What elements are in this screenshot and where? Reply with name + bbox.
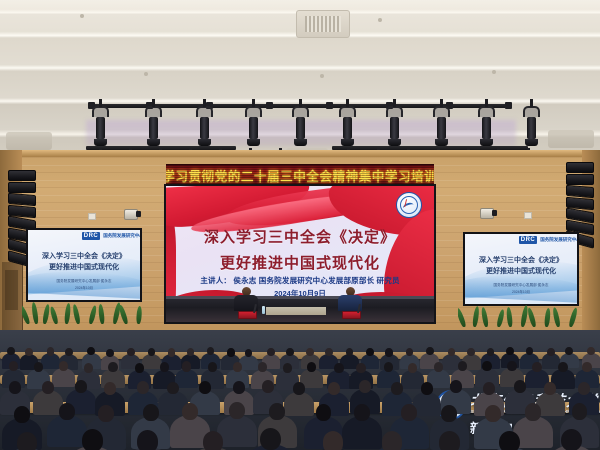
stage-spotlight (145, 106, 162, 146)
audience-member-head (354, 404, 370, 421)
audience-member-head (9, 381, 21, 394)
audience-member-head (408, 363, 417, 373)
audience-member-head (578, 382, 590, 395)
stage-spotlight (196, 106, 213, 146)
audience-member-head (182, 361, 191, 371)
audience-member-head (323, 431, 344, 450)
stage-spotlight (292, 106, 309, 146)
left-monitor-date: 2024年10月 (28, 285, 140, 290)
audience-member-head (346, 348, 354, 356)
audience-member-head (382, 431, 403, 450)
audience-member-head (426, 347, 434, 355)
stage-spotlight (478, 106, 495, 146)
audience-member-head (42, 381, 54, 394)
audience-member-head (450, 380, 462, 393)
audience-member-head (359, 380, 371, 393)
audience-member-head (434, 362, 443, 372)
left-monitor-surface: DRC 国务院发展研究中心 深入学习三中全会《决定》 更好推进中国式现代化 国务… (28, 230, 140, 300)
drc-logo-org: 国务院发展研究中心 (540, 237, 577, 243)
wall-camera-left (124, 209, 138, 220)
audience-member-head (587, 347, 595, 355)
right-monitor-date: 2024年10月 (465, 289, 577, 294)
drc-logo-bar: DRC 国务院发展研究中心 (465, 234, 577, 245)
audience-member-head (506, 347, 514, 355)
audience-member-head (167, 382, 179, 395)
audience-member-head (269, 403, 285, 420)
potted-plants-right (458, 303, 586, 327)
audience-member-head (283, 363, 292, 373)
audience-member-head (565, 347, 573, 355)
podium-document (266, 307, 326, 315)
audience-member-head (483, 382, 495, 395)
audience-member-head (439, 431, 460, 450)
ceiling-sensor-dot (80, 14, 84, 18)
audience-member-head (227, 348, 235, 356)
audience-member-head (499, 431, 520, 450)
audience-member (52, 368, 75, 387)
left-monitor-title-1: 深入学习三中全会《决定》 (28, 251, 140, 261)
audience-member-head (582, 362, 591, 372)
stage-spotlight (92, 106, 109, 146)
drc-logo-mark: DRC (82, 232, 101, 240)
audience-member-head (385, 348, 393, 356)
audience-member-head (366, 348, 374, 356)
audience-member-head (7, 347, 15, 355)
audience-member-head (286, 348, 294, 356)
audience-member-head (203, 431, 224, 450)
audience-member-head (59, 403, 75, 420)
main-title-line-1: 深入学习三中全会《决定》 (166, 226, 434, 247)
main-title-line-2: 更好推进中国式现代化 (166, 252, 434, 273)
audience-member-head (14, 406, 30, 423)
audience-member-head (421, 382, 433, 395)
audience-member-head (25, 348, 33, 356)
audience-member-head (143, 404, 159, 421)
stage-spotlight (339, 106, 356, 146)
audience-member-head (482, 361, 491, 371)
audience-member (342, 416, 382, 448)
audience-member-head (441, 405, 457, 422)
main-screen-surface: 深入学习三中全会《决定》 更好推进中国式现代化 主讲人： 侯永志 国务院发展研究… (166, 186, 434, 322)
led-banner: 学习贯彻党的二十届三中全会精神集中学习培训 (166, 164, 434, 186)
audience-member (142, 354, 161, 369)
conference-hall-photo: 学习贯彻党的二十届三中全会精神集中学习培训 深入学习三中全会《决定》 更好推进中… (0, 0, 600, 450)
audience-member-head (199, 381, 211, 394)
led-banner-text: 学习贯彻党的二十届三中全会精神集中学习培训 (166, 166, 434, 185)
water-bottle (262, 306, 265, 314)
audience-member-head (525, 403, 541, 420)
audience-member-head (316, 404, 332, 421)
drc-logo-org: 国务院发展研究中心 (103, 233, 140, 239)
right-monitor-title-2: 更好推进中国式现代化 (465, 266, 577, 276)
ceiling-recess (548, 130, 594, 148)
audience-member-head (160, 362, 169, 372)
audience-member-head (137, 381, 149, 394)
ceiling-sensor-dot (378, 18, 382, 22)
left-monitor-subtitle: 国务院发展研究中心发展部 侯永志 (28, 279, 140, 284)
audience-member-head (108, 362, 117, 372)
audience-member-head (245, 349, 253, 357)
drc-logo-bar: DRC 国务院发展研究中心 (28, 230, 140, 241)
audience-member (284, 392, 314, 416)
audience-member-head (507, 361, 516, 371)
audience-member-head (561, 429, 582, 450)
audience-member-head (47, 347, 55, 355)
university-emblem-icon (396, 192, 422, 218)
main-projection-screen: 深入学习三中全会《决定》 更好推进中国式现代化 主讲人： 侯永志 国务院发展研究… (164, 184, 436, 324)
audience-member-head (487, 348, 495, 356)
audience-member-head (260, 428, 281, 450)
right-monitor-title-1: 深入学习三中全会《决定》 (465, 255, 577, 265)
ceiling-sensor-dot (320, 74, 324, 78)
audience-member-head (233, 381, 245, 394)
side-door[interactable] (2, 262, 23, 340)
side-monitor-right: DRC 国务院发展研究中心 深入学习三中全会《决定》 更好推进中国式现代化 国务… (463, 232, 579, 306)
audience-member-head (148, 348, 156, 356)
audience-member (41, 353, 60, 368)
audience-member-head (356, 363, 365, 373)
audience-member-head (82, 429, 103, 450)
wall-camera-right (480, 208, 494, 219)
audience-member-head (391, 382, 403, 395)
wall-plate (524, 212, 532, 219)
side-monitor-left: DRC 国务院发展研究中心 深入学习三中全会《决定》 更好推进中国式现代化 国务… (26, 228, 142, 302)
audience-member-head (514, 380, 526, 393)
audience-member-head (75, 380, 87, 393)
audience-member-head (262, 380, 274, 393)
audience-member-head (532, 362, 541, 372)
ceiling-sensor-dot (144, 72, 148, 76)
ceiling-air-vent (296, 10, 350, 38)
right-monitor-surface: DRC 国务院发展研究中心 深入学习三中全会《决定》 更好推进中国式现代化 国务… (465, 234, 577, 304)
audience-member-head (98, 405, 114, 422)
right-monitor-subtitle: 国务院发展研究中心发展部 侯永志 (465, 283, 577, 288)
ceiling-recess (6, 132, 52, 150)
audience-member-head (307, 362, 316, 372)
audience-member-head (334, 363, 343, 373)
audience-member-head (485, 405, 501, 422)
audience-member-head (293, 382, 305, 395)
stage-spotlight (433, 106, 450, 146)
audience-member-head (135, 363, 144, 373)
audience-member-head (137, 430, 158, 450)
stage-spotlight (386, 106, 403, 146)
wall-plate (88, 213, 96, 220)
main-screen-speaker-line: 主讲人： 侯永志 国务院发展研究中心发展部原部长 研究员 (166, 275, 434, 286)
audience-member-head (187, 348, 195, 356)
wall-top-trim (0, 150, 600, 157)
audience-member-head (325, 348, 333, 356)
audience-member-head (328, 382, 340, 395)
main-screen-title: 深入学习三中全会《决定》 更好推进中国式现代化 (166, 226, 434, 273)
audience-member-head (558, 362, 567, 372)
audience-member-head (258, 362, 267, 372)
audience-member (47, 415, 87, 447)
audience-member-head (233, 362, 242, 372)
audience-member-head (9, 361, 18, 371)
ceiling-sensor-dot (492, 70, 496, 74)
left-monitor-title-2: 更好推进中国式现代化 (28, 262, 140, 272)
audience-member-head (267, 348, 275, 356)
audience-member-head (401, 404, 417, 421)
potted-plants-left (22, 300, 148, 324)
audience-member-head (384, 362, 393, 372)
audience-member-head (127, 348, 135, 356)
audience-member-head (229, 402, 245, 419)
audience-member-head (106, 349, 114, 357)
stage-spotlight (523, 106, 540, 146)
audience-member-head (168, 348, 176, 356)
audience-member-head (59, 361, 68, 371)
audience-member-head (65, 348, 73, 356)
audience-member-head (547, 348, 555, 356)
drc-logo-mark: DRC (519, 236, 538, 244)
audience-member-head (104, 382, 116, 395)
podium-table (166, 296, 434, 322)
audience-member-head (182, 403, 198, 420)
audience-member-head (306, 348, 314, 356)
audience-member-head (17, 432, 38, 450)
stage-spotlight (245, 106, 262, 146)
